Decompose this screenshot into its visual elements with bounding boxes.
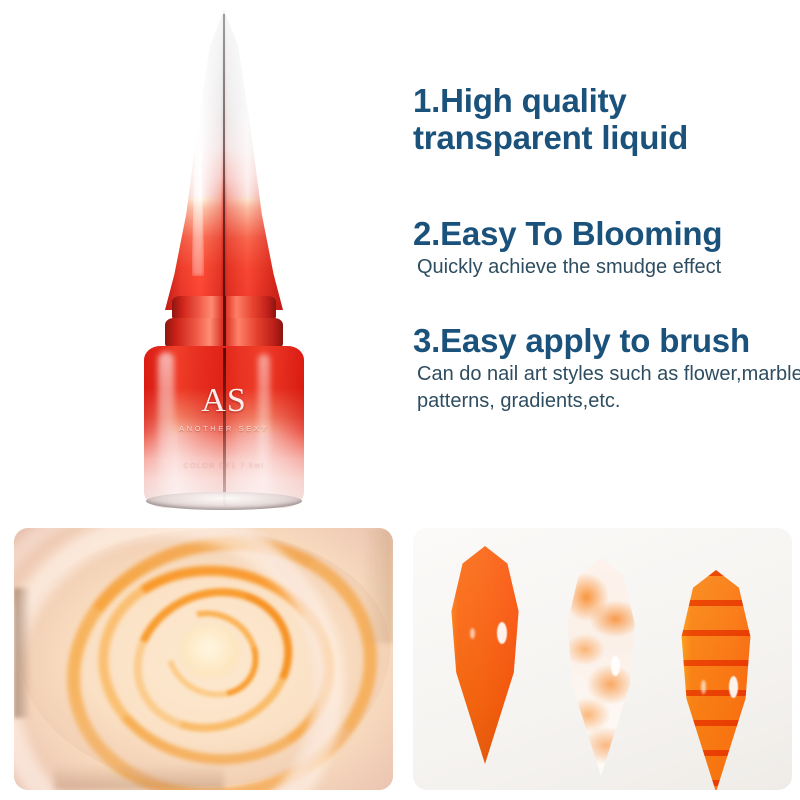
feature-item-1: 1.High quality transparent liquid: [413, 82, 800, 156]
cap-seam: [223, 14, 225, 310]
product-infographic: AS ANOTHER SEXY COLOR GEL 7.5ml 1.High q…: [0, 0, 800, 800]
neck-seam: [223, 296, 226, 352]
bloom-edge-top-right: [363, 528, 393, 643]
marble-nail: [561, 558, 641, 776]
nail-3-highlight: [729, 676, 738, 698]
product-bottle: AS ANOTHER SEXY COLOR GEL 7.5ml: [130, 0, 320, 520]
feature-item-2: 2.Easy To Blooming Quickly achieve the s…: [413, 215, 800, 281]
nail-1-highlight: [497, 622, 507, 644]
nail-2-highlight: [611, 656, 620, 676]
bottle-base: [146, 492, 302, 510]
nail-1-highlight-small: [470, 628, 475, 639]
feature-1-heading: 1.High quality transparent liquid: [413, 82, 800, 156]
solid-orange-nail: [445, 546, 525, 764]
photo-blooming-swirl: [14, 528, 393, 790]
feature-3-heading: 3.Easy apply to brush: [413, 322, 800, 359]
bloom-edge-left: [14, 588, 30, 718]
feature-2-heading: 2.Easy To Blooming: [413, 215, 800, 252]
striped-nail: [675, 570, 757, 790]
nail-3-highlight-small: [701, 680, 706, 694]
bloom-rim-outer: [14, 528, 330, 790]
bottle-fine-print: COLOR GEL 7.5ml: [144, 462, 304, 472]
bloom-edge-bottom: [54, 764, 224, 790]
feature-3-subtitle: Can do nail art styles such as flower,ma…: [417, 361, 800, 415]
feature-item-3: 3.Easy apply to brush Can do nail art st…: [413, 322, 800, 415]
brand-logo: AS: [144, 382, 304, 420]
photo-nail-swatches: [413, 528, 792, 790]
brand-tagline: ANOTHER SEXY: [144, 424, 304, 433]
feature-2-subtitle: Quickly achieve the smudge effect: [417, 254, 800, 281]
